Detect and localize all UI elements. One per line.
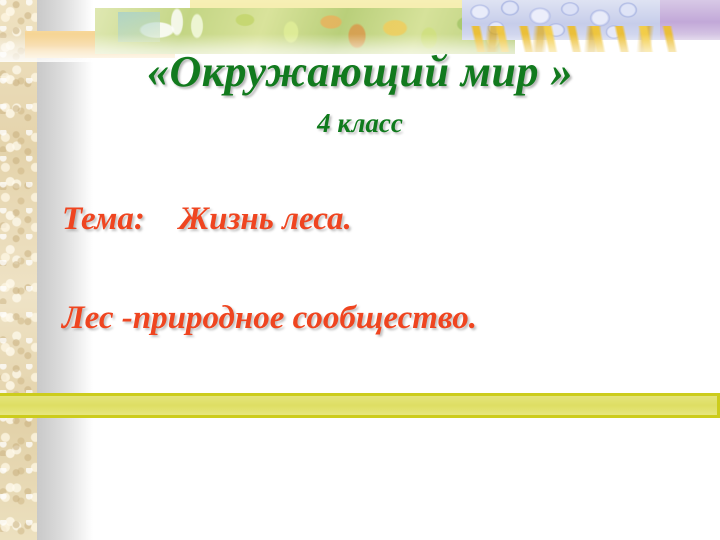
yellow-divider-bar <box>0 393 720 418</box>
topic-label: Тема: <box>62 201 145 237</box>
slide-title: «Окружающий мир » <box>0 46 720 97</box>
slide-subtitle: 4 класс <box>0 108 720 139</box>
statement-line: Лес -природное сообщество. <box>62 300 477 337</box>
topic-value: Жизнь леса. <box>179 201 352 237</box>
topic-line: Тема:Жизнь леса. <box>62 201 352 238</box>
presentation-slide: «Окружающий мир » 4 класс Тема:Жизнь лес… <box>0 0 720 540</box>
